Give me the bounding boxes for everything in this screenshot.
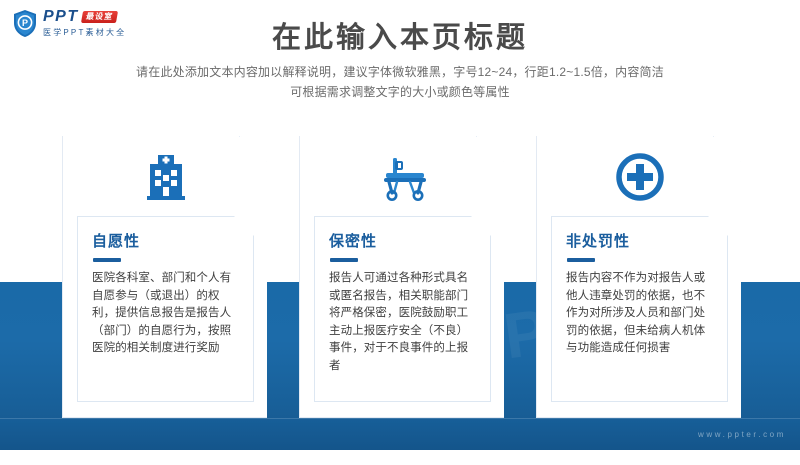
page-subtitle: 请在此处添加文本内容加以解释说明，建议字体微软雅黑，字号12~24，行距1.2~…	[100, 62, 700, 102]
page-title: 在此输入本页标题	[0, 14, 800, 56]
footer-watermark-url: www.ppter.com	[698, 430, 786, 439]
card-inner-panel: 保密性 报告人可通过各种形式具名或匿名报告，相关职能部门将严格保密，医院鼓励职工…	[314, 216, 491, 402]
card-title: 保密性	[329, 233, 478, 251]
card-title: 非处罚性	[566, 233, 715, 251]
card-inner-panel: 自愿性 医院各科室、部门和个人有自愿参与（或退出）的权利，提供信息报告是报告人（…	[77, 216, 254, 402]
hospital-building-icon	[63, 146, 268, 208]
hospital-bed-icon	[300, 146, 505, 208]
card-title-rule	[93, 258, 121, 262]
feature-card-voluntary[interactable]: 自愿性 医院各科室、部门和个人有自愿参与（或退出）的权利，提供信息报告是报告人（…	[62, 136, 267, 418]
card-body-text: 医院各科室、部门和个人有自愿参与（或退出）的权利，提供信息报告是报告人（部门）的…	[92, 270, 241, 358]
subtitle-line-1: 请在此处添加文本内容加以解释说明，建议字体微软雅黑，字号12~24，行距1.2~…	[100, 62, 700, 82]
subtitle-line-2: 可根据需求调整文字的大小或颜色等属性	[100, 82, 700, 102]
card-inner-panel: 非处罚性 报告内容不作为对报告人或他人违章处罚的依据，也不作为对所涉及人员和部门…	[551, 216, 728, 402]
feature-card-confidential[interactable]: 保密性 报告人可通过各种形式具名或匿名报告，相关职能部门将严格保密，医院鼓励职工…	[299, 136, 504, 418]
card-title: 自愿性	[92, 233, 241, 251]
background-bottom-band	[0, 418, 800, 450]
medical-cross-circle-icon	[537, 146, 742, 208]
card-body-text: 报告内容不作为对报告人或他人违章处罚的依据，也不作为对所涉及人员和部门处罚的依据…	[566, 270, 715, 358]
feature-card-nonpunitive[interactable]: 非处罚性 报告内容不作为对报告人或他人违章处罚的依据，也不作为对所涉及人员和部门…	[536, 136, 741, 418]
card-title-rule	[330, 258, 358, 262]
card-title-rule	[567, 258, 595, 262]
card-body-text: 报告人可通过各种形式具名或匿名报告，相关职能部门将严格保密，医院鼓励职工主动上报…	[329, 270, 478, 375]
